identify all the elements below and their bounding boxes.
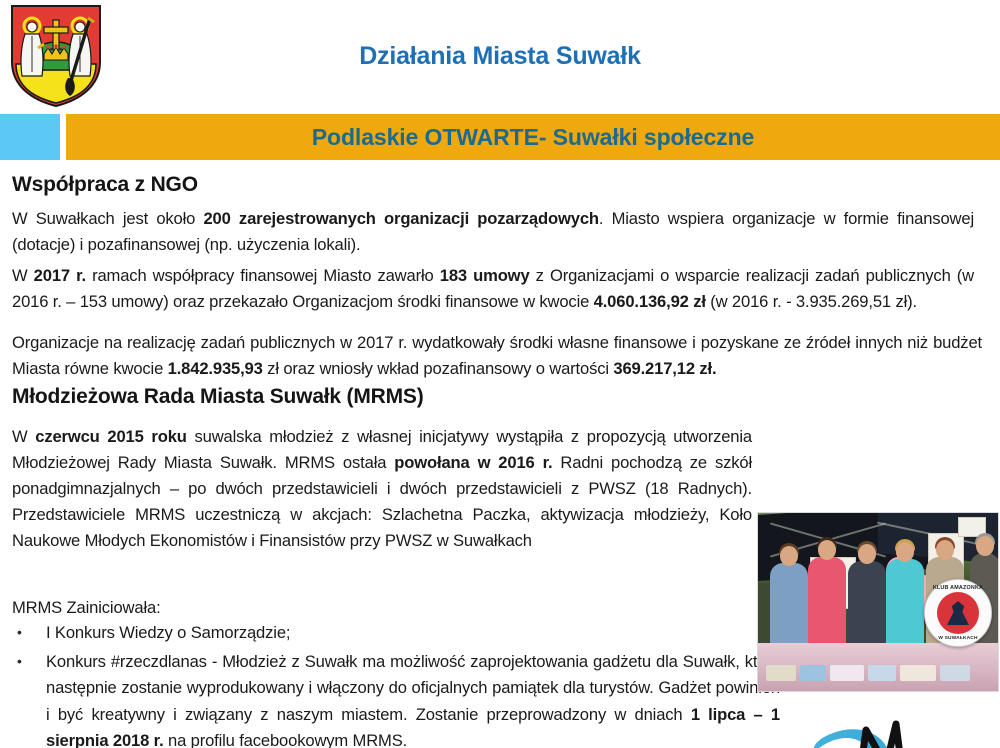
- photo-person-head: [818, 540, 836, 560]
- photo-person: [848, 561, 886, 649]
- photo-person-head: [976, 536, 994, 556]
- photo-table-item: [800, 665, 826, 681]
- klub-amazonka-badge-icon: KLUB AMAZONKA W SUWAŁKACH: [924, 579, 992, 647]
- ngo-paragraph-2: W 2017 r. ramach współpracy finansowej M…: [12, 263, 974, 315]
- suwalki-coat-of-arms-icon: [8, 4, 104, 108]
- photo-table-item: [900, 665, 936, 681]
- list-item: I Konkurs Wiedzy o Samorządzie;: [0, 620, 780, 647]
- photo-person-head: [858, 544, 876, 564]
- slide-root: Działania Miasta Suwałk Podlaskie OTWART…: [0, 0, 1000, 748]
- photo-table-item: [868, 665, 896, 681]
- photo-person: [770, 563, 808, 649]
- badge-bottom-text: W SUWAŁKACH: [925, 636, 991, 641]
- photo-person-head: [780, 546, 798, 566]
- photo-klub-amazonka-stand: KLUB AMAZONKA W SUWAŁKACH: [757, 512, 999, 692]
- mrm-suwalki-logo-icon: [788, 708, 993, 748]
- photo-table-item: [766, 665, 796, 681]
- photo-person: [886, 559, 924, 649]
- list-item: Konkurs #rzeczdlanas - Młodzież z Suwałk…: [0, 649, 780, 748]
- photo-table-item: [940, 665, 970, 681]
- ngo-paragraph-1: W Suwałkach jest około 200 zarejestrowan…: [12, 206, 974, 258]
- photo-table-item: [830, 665, 864, 681]
- section-heading-mrms: Młodzieżowa Rada Miasta Suwałk (MRMS): [12, 385, 424, 409]
- photo-person: [808, 557, 846, 649]
- badge-top-text: KLUB AMAZONKA: [925, 585, 991, 591]
- ngo-paragraph-small: Organizacje na realizację zadań publiczn…: [12, 330, 982, 382]
- banner-row: Podlaskie OTWARTE- Suwałki społeczne: [0, 114, 1000, 160]
- banner-title: Podlaskie OTWARTE- Suwałki społeczne: [66, 114, 1000, 160]
- banner-bar: Podlaskie OTWARTE- Suwałki społeczne: [66, 114, 1000, 160]
- page-title: Działania Miasta Suwałk: [120, 42, 880, 71]
- photo-person-head: [896, 542, 914, 562]
- section-heading-ngo: Współpraca z NGO: [12, 173, 198, 197]
- slide-content: Współpraca z NGO W Suwałkach jest około …: [0, 160, 1000, 748]
- mrms-initiatives-list: I Konkurs Wiedzy o Samorządzie; Konkurs …: [0, 620, 780, 748]
- photo-person-head: [936, 540, 954, 560]
- slide-header: Działania Miasta Suwałk: [0, 0, 1000, 112]
- mrms-list-intro: MRMS Zainiciowała:: [12, 595, 161, 621]
- mrms-paragraph: W czerwcu 2015 roku suwalska młodzież z …: [12, 424, 752, 554]
- banner-color-swatch: [0, 114, 60, 160]
